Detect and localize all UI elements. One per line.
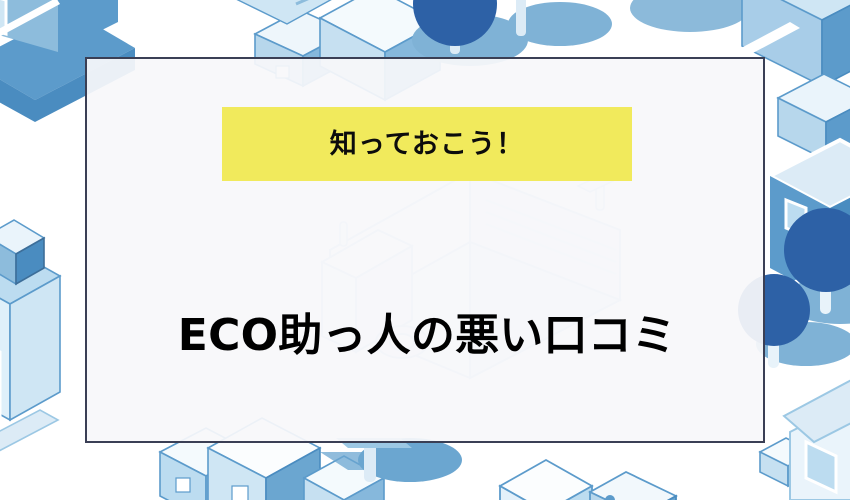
headline-wrapper: ECO助っ人の悪い口コミ <box>87 283 767 390</box>
page-title: ECO助っ人の悪い口コミ <box>178 312 676 360</box>
content-card: 知っておこう！ ECO助っ人の悪い口コミ <box>85 57 765 443</box>
slide-canvas: 知っておこう！ ECO助っ人の悪い口コミ <box>0 0 850 500</box>
eyebrow-highlight-banner: 知っておこう！ <box>222 107 632 181</box>
eyebrow-label: 知っておこう！ <box>330 131 524 158</box>
